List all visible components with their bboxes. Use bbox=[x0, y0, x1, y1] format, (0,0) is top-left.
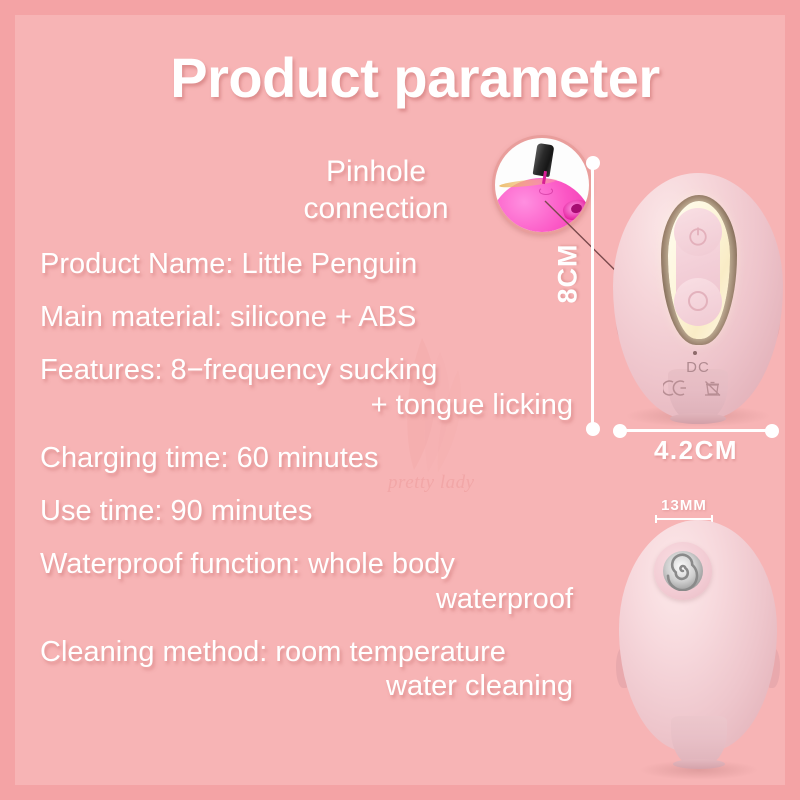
dimension-cap-bottom bbox=[586, 422, 600, 436]
product-parameter-infographic: pretty lady Product parameter Pinhole co… bbox=[0, 0, 800, 800]
spec-features-line2: + tongue licking bbox=[15, 388, 585, 422]
specification-list: Product Name: Little Penguin Main materi… bbox=[15, 247, 585, 722]
zoom-ce-mark bbox=[539, 187, 553, 195]
pinhole-callout-line1: Pinhole bbox=[251, 154, 501, 191]
spec-main-material: Main material: silicone + ABS bbox=[15, 300, 585, 334]
dc-port-label: DC bbox=[669, 359, 727, 376]
width-dimension-label: 4.2CM bbox=[610, 435, 782, 466]
page-title: Product parameter bbox=[15, 45, 785, 110]
product-front-view: DC bbox=[613, 173, 783, 438]
certification-marks bbox=[663, 378, 735, 398]
spec-waterproof-line2: waterproof bbox=[15, 582, 585, 616]
pinhole-callout-label: Pinhole connection bbox=[251, 154, 501, 227]
product-base-lip bbox=[673, 759, 725, 769]
spec-charging-time: Charging time: 60 minutes bbox=[15, 441, 585, 475]
pinhole-callout-line2: connection bbox=[251, 191, 501, 228]
spiral-suction-nozzle-icon bbox=[663, 551, 703, 591]
spec-cleaning-line2: water cleaning bbox=[15, 669, 585, 703]
spec-product-name: Product Name: Little Penguin bbox=[15, 247, 585, 281]
nozzle-dimension-label: 13MM bbox=[633, 497, 735, 514]
spec-use-time: Use time: 90 minutes bbox=[15, 494, 585, 528]
dimension-cap-top bbox=[586, 156, 600, 170]
power-button-icon bbox=[687, 225, 709, 247]
weee-crossed-bin-icon bbox=[705, 382, 720, 396]
width-dimension-line bbox=[620, 429, 772, 432]
inner-panel: pretty lady Product parameter Pinhole co… bbox=[15, 15, 785, 785]
mode-button-icon bbox=[688, 291, 708, 311]
product-base-lip bbox=[670, 413, 726, 424]
spec-features-line1: Features: 8−frequency sucking bbox=[15, 353, 585, 387]
spec-cleaning-line1: Cleaning method: room temperature bbox=[15, 635, 585, 669]
pinhole-zoom-bubble bbox=[492, 135, 592, 235]
product-nozzle-view bbox=[613, 520, 783, 785]
height-dimension-line bbox=[591, 163, 594, 429]
dc-port-marker bbox=[693, 351, 697, 355]
spec-waterproof-line1: Waterproof function: whole body bbox=[15, 547, 585, 581]
